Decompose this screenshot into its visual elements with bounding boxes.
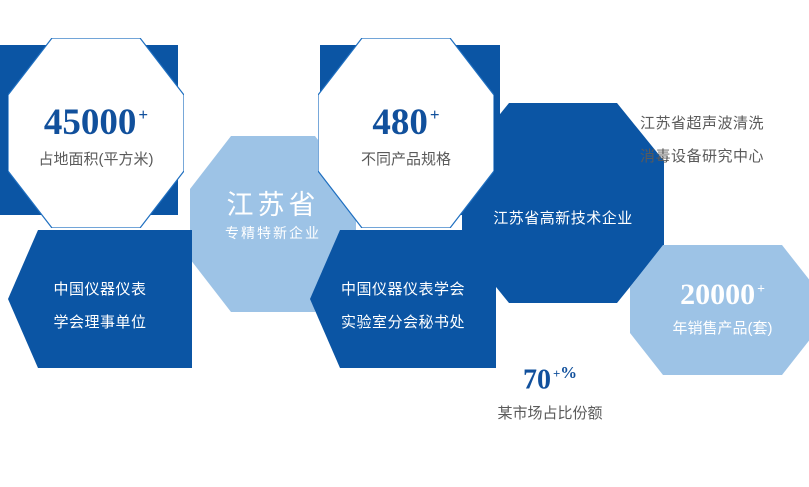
province-specialty-subtitle: 专精特新企业 <box>225 228 321 242</box>
province-specialty-label: 江苏省 专精特新企业 <box>190 182 356 252</box>
specs-stat-label: 480+ 不同产品规格 <box>318 95 494 175</box>
specs-plus-superscript: + <box>430 105 440 124</box>
research-center-label: 江苏省超声波清洗 消毒设备研究中心 <box>640 105 800 175</box>
instrument-society-line1: 中国仪器仪表 <box>53 282 146 297</box>
research-center-line1: 江苏省超声波清洗 <box>640 116 764 131</box>
specs-caption: 不同产品规格 <box>361 152 451 167</box>
instrument-society-line2: 学会理事单位 <box>53 315 146 330</box>
high-tech-title: 江苏省高新技术企业 <box>493 211 633 226</box>
lab-branch-line2: 实验室分会秘书处 <box>341 315 465 330</box>
instrument-society-label: 中国仪器仪表 学会理事单位 <box>8 272 192 340</box>
lab-branch-line1: 中国仪器仪表学会 <box>341 282 465 297</box>
market-share-unit: % <box>560 363 577 382</box>
area-caption: 占地面积(平方米) <box>39 152 154 167</box>
annual-sales-stat-label: 20000+ 年销售产品(套) <box>630 270 809 346</box>
area-stat-label: 45000+ 占地面积(平方米) <box>8 95 184 175</box>
annual-sales-caption: 年销售产品(套) <box>673 321 773 336</box>
annual-sales-plus-superscript: + <box>757 281 765 296</box>
market-share-stat-label: 70+% 某市场占比份额 <box>465 360 635 426</box>
market-share-caption: 某市场占比份额 <box>497 406 602 421</box>
specs-value: 480+ <box>372 104 439 141</box>
high-tech-label: 江苏省高新技术企业 <box>462 205 664 231</box>
lab-branch-label: 中国仪器仪表学会 实验室分会秘书处 <box>310 272 496 340</box>
annual-sales-value: 20000+ <box>680 280 765 310</box>
market-share-value: 70+% <box>523 365 577 394</box>
area-value: 45000+ <box>44 104 148 141</box>
research-center-line2: 消毒设备研究中心 <box>640 149 764 164</box>
province-specialty-title: 江苏省 <box>227 192 320 219</box>
infographic-canvas: 45000+ 占地面积(平方米) 480+ 不同产品规格 江苏省 专精特新企业 … <box>0 0 809 487</box>
area-plus-superscript: + <box>138 105 148 124</box>
